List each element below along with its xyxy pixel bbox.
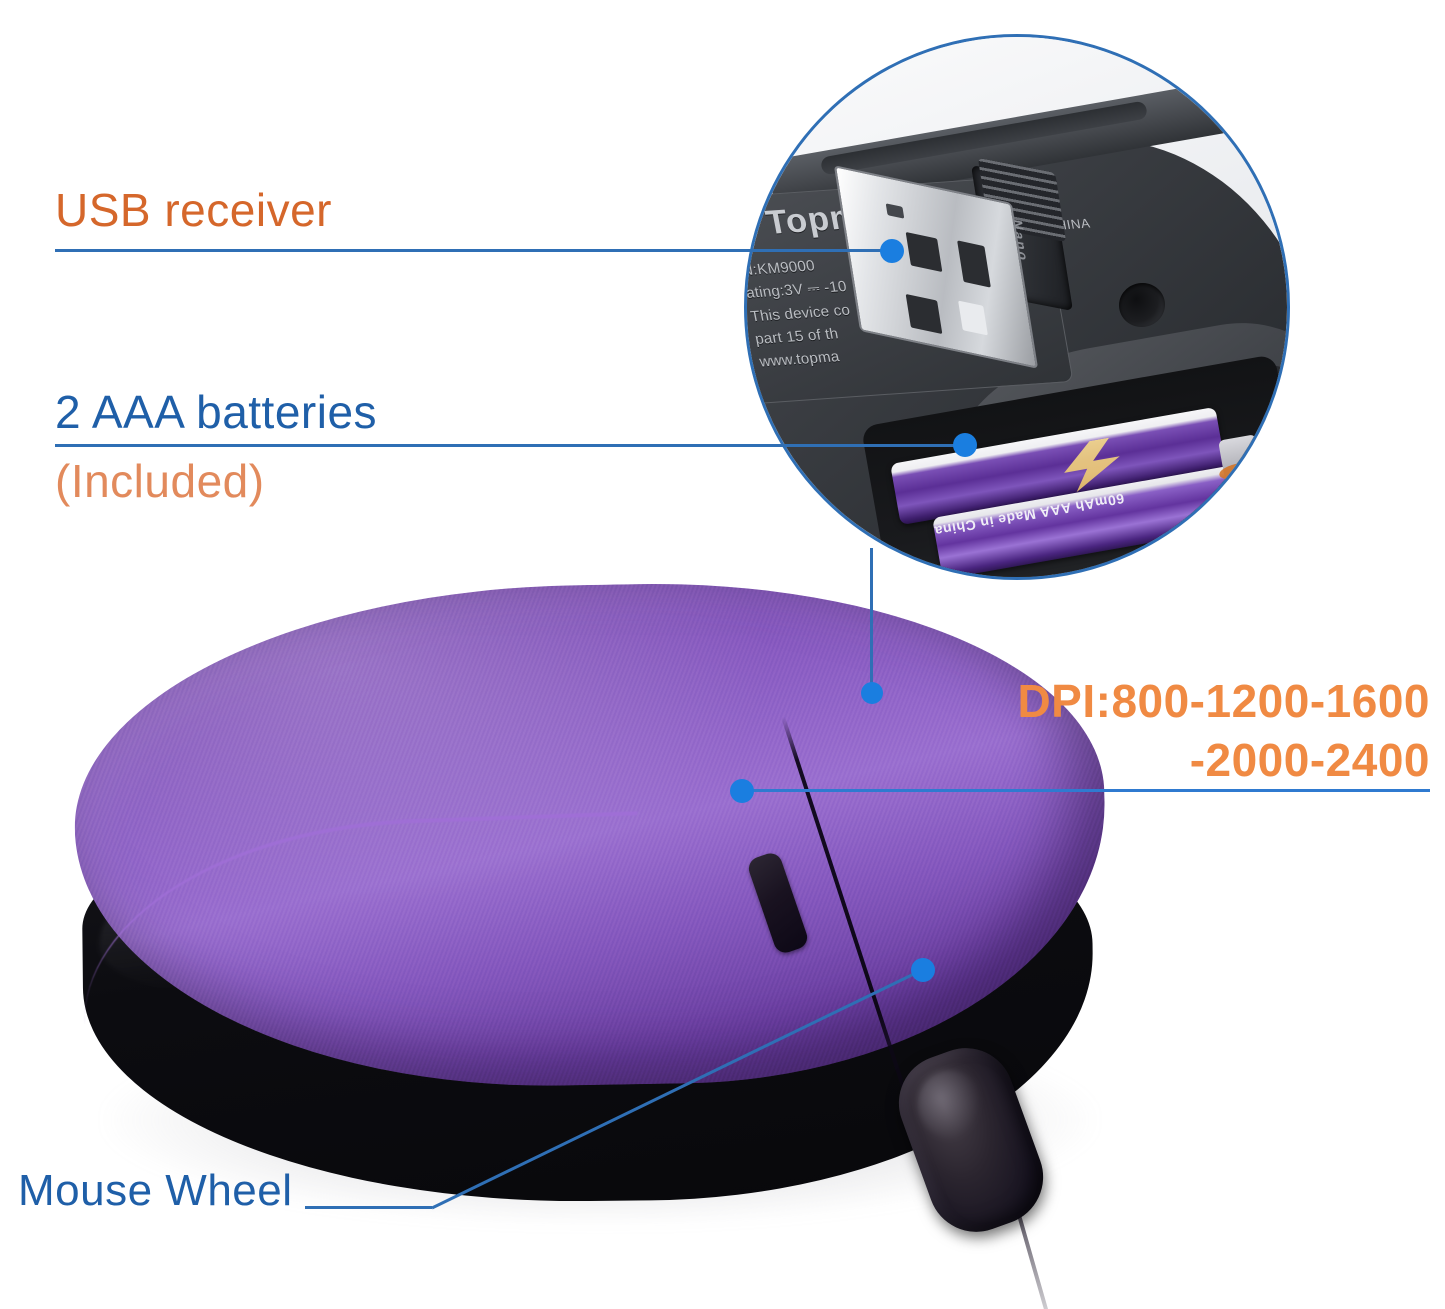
infographic-canvas: Topmate CHINA N:KM9000 ating:3V ⎓ -10 Th… [0,0,1445,1309]
callout-label-dpi: DPI:800-1200-1600 -2000-2400 [940,672,1430,790]
leader-line-mouse-wheel-horizontal [305,1206,432,1209]
leader-line-inset-to-mouse [870,548,873,690]
callout-dot-usb-receiver [880,239,904,263]
callout-label-included: (Included) [55,457,265,505]
callout-dot-inset-anchor [861,682,883,704]
callout-dot-dpi [730,779,754,803]
dpi-line-2: -2000-2400 [940,731,1430,790]
callout-label-mouse-wheel: Mouse Wheel [18,1168,293,1214]
leader-line-mouse-wheel-diagonal [420,960,940,1220]
callout-dot-aaa-batteries [953,433,977,457]
zoom-inset-circle: Topmate CHINA N:KM9000 ating:3V ⎓ -10 Th… [744,34,1290,580]
callout-label-usb-receiver: USB receiver [55,186,332,234]
callout-dot-mouse-wheel [911,958,935,982]
leader-line-aaa-batteries [55,444,965,447]
callout-label-aaa-batteries: 2 AAA batteries [55,388,377,436]
leader-line-usb-receiver [55,249,895,252]
dpi-line-1: DPI:800-1200-1600 [940,672,1430,731]
